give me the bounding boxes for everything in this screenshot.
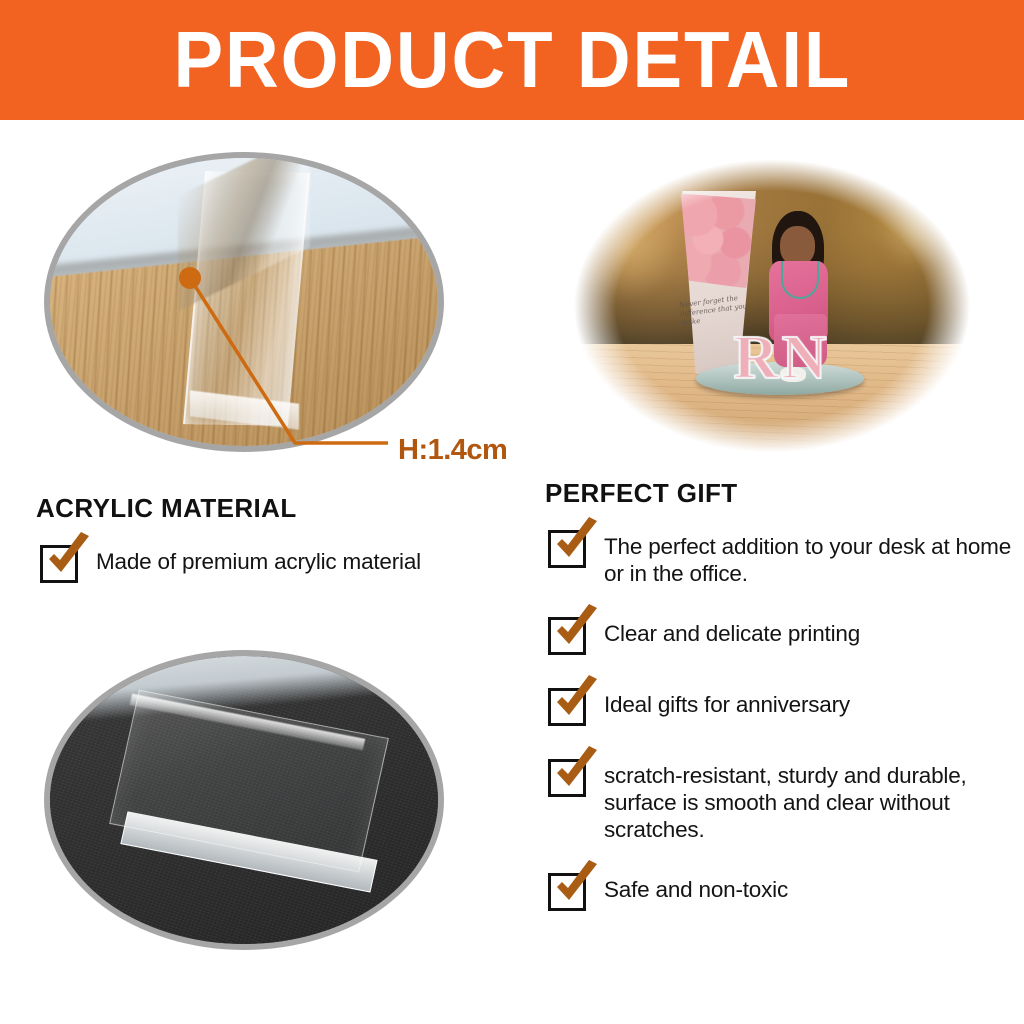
list-item: Clear and delicate printing (548, 615, 1014, 655)
list-item-label: Safe and non-toxic (604, 871, 788, 903)
nurse-face (780, 226, 815, 266)
list-item-label: Made of premium acrylic material (96, 543, 421, 575)
page-title: PRODUCT DETAIL (173, 20, 851, 100)
list-item-label: Clear and delicate printing (604, 615, 860, 647)
rn-letter-blocks: R N (692, 306, 868, 389)
height-dimension-label: H:1.4cm (398, 434, 507, 467)
checkbox-checked-icon (548, 873, 586, 911)
list-item: Safe and non-toxic (548, 871, 1014, 911)
checkbox-checked-icon (548, 530, 586, 568)
page-header-banner: PRODUCT DETAIL (0, 0, 1024, 120)
list-item: Made of premium acrylic material (40, 543, 520, 583)
section-heading-acrylic-material: ACRYLIC MATERIAL (36, 493, 297, 524)
checkbox-checked-icon (40, 545, 78, 583)
feature-list-acrylic-material: Made of premium acrylic material (40, 543, 520, 613)
product-photo-acrylic-slab (44, 650, 444, 950)
photo-scene-wood-table (50, 158, 438, 446)
product-photo-acrylic-edge (44, 152, 444, 452)
product-photo-rn-figurine: Never forget the difference that you mak… (572, 158, 972, 454)
list-item: The perfect addition to your desk at hom… (548, 528, 1014, 587)
list-item: Ideal gifts for anniversary (548, 686, 1014, 726)
checkbox-checked-icon (548, 759, 586, 797)
feature-list-perfect-gift: The perfect addition to your desk at hom… (548, 528, 1014, 942)
checkbox-checked-icon (548, 688, 586, 726)
rn-letter-n: N (782, 327, 827, 389)
section-heading-perfect-gift: PERFECT GIFT (545, 478, 738, 509)
rn-letter-r: R (733, 327, 778, 389)
stethoscope-icon (781, 261, 818, 299)
list-item-label: scratch-resistant, sturdy and durable, s… (604, 757, 1014, 843)
list-item-label: Ideal gifts for anniversary (604, 686, 850, 718)
list-item: scratch-resistant, sturdy and durable, s… (548, 757, 1014, 843)
checkbox-checked-icon (548, 617, 586, 655)
list-item-label: The perfect addition to your desk at hom… (604, 528, 1014, 587)
